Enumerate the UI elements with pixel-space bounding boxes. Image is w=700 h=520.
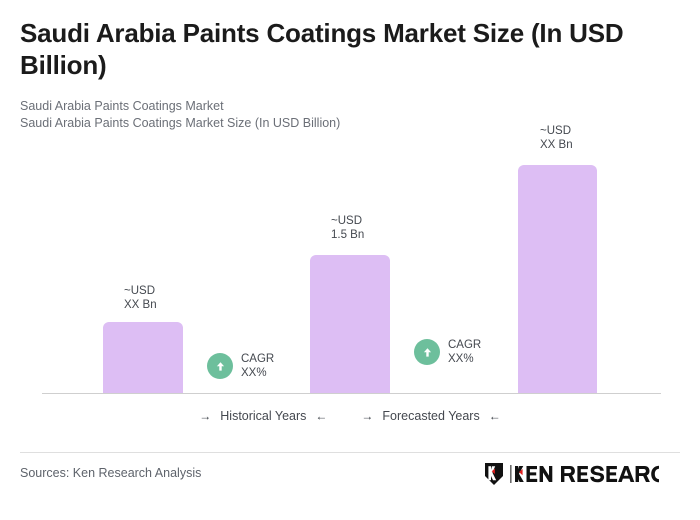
bar-2-value-label: ~USD 1.5 Bn	[331, 214, 364, 242]
bar-1-value-label: ~USD XX Bn	[124, 284, 157, 312]
cagr-badge-1-line-2: XX%	[241, 366, 274, 380]
arrow-left-icon: ←	[315, 410, 327, 422]
cagr-badge-2-line-2: XX%	[448, 352, 481, 366]
bar-3[interactable]	[518, 165, 597, 393]
ken-research-logo	[483, 462, 659, 486]
bar-2[interactable]	[310, 255, 390, 393]
chart-page: Saudi Arabia Paints Coatings Market Size…	[0, 0, 700, 520]
cagr-badge-1-text: CAGR XX%	[241, 352, 274, 380]
chart-baseline-axis	[42, 393, 661, 394]
bar-3-value-label: ~USD XX Bn	[540, 124, 573, 152]
arrow-left-icon: ←	[489, 410, 501, 422]
chart-plot-area: ~USD XX Bn ~USD 1.5 Bn ~USD XX Bn CAGR X…	[0, 0, 700, 400]
bar-3-value-line-2: XX Bn	[540, 138, 573, 152]
legend-item-historical-years: → Historical Years ←	[199, 409, 327, 423]
arrow-right-icon: →	[361, 410, 373, 422]
cagr-badge-1-line-1: CAGR	[241, 352, 274, 366]
cagr-badge-2-line-1: CAGR	[448, 338, 481, 352]
bar-3-value-line-1: ~USD	[540, 124, 573, 138]
legend-item-forecasted-years: → Forecasted Years ←	[361, 409, 500, 423]
bar-1[interactable]	[103, 322, 183, 393]
cagr-badge-1: CAGR XX%	[207, 352, 274, 380]
arrow-right-icon: →	[199, 410, 211, 422]
arrow-up-icon	[414, 339, 440, 365]
cagr-badge-2: CAGR XX%	[414, 338, 481, 366]
legend-item-historical-years-label: Historical Years	[220, 409, 306, 423]
footer-divider	[20, 452, 680, 453]
ken-research-logo-mark	[483, 462, 659, 486]
arrow-up-icon	[207, 353, 233, 379]
bar-2-value-line-2: 1.5 Bn	[331, 228, 364, 242]
bar-1-value-line-2: XX Bn	[124, 298, 157, 312]
legend-item-forecasted-years-label: Forecasted Years	[382, 409, 479, 423]
bar-2-value-line-1: ~USD	[331, 214, 364, 228]
sources-text: Sources: Ken Research Analysis	[20, 466, 201, 480]
bar-1-value-line-1: ~USD	[124, 284, 157, 298]
year-range-legend: → Historical Years ← → Forecasted Years …	[0, 409, 700, 423]
cagr-badge-2-text: CAGR XX%	[448, 338, 481, 366]
